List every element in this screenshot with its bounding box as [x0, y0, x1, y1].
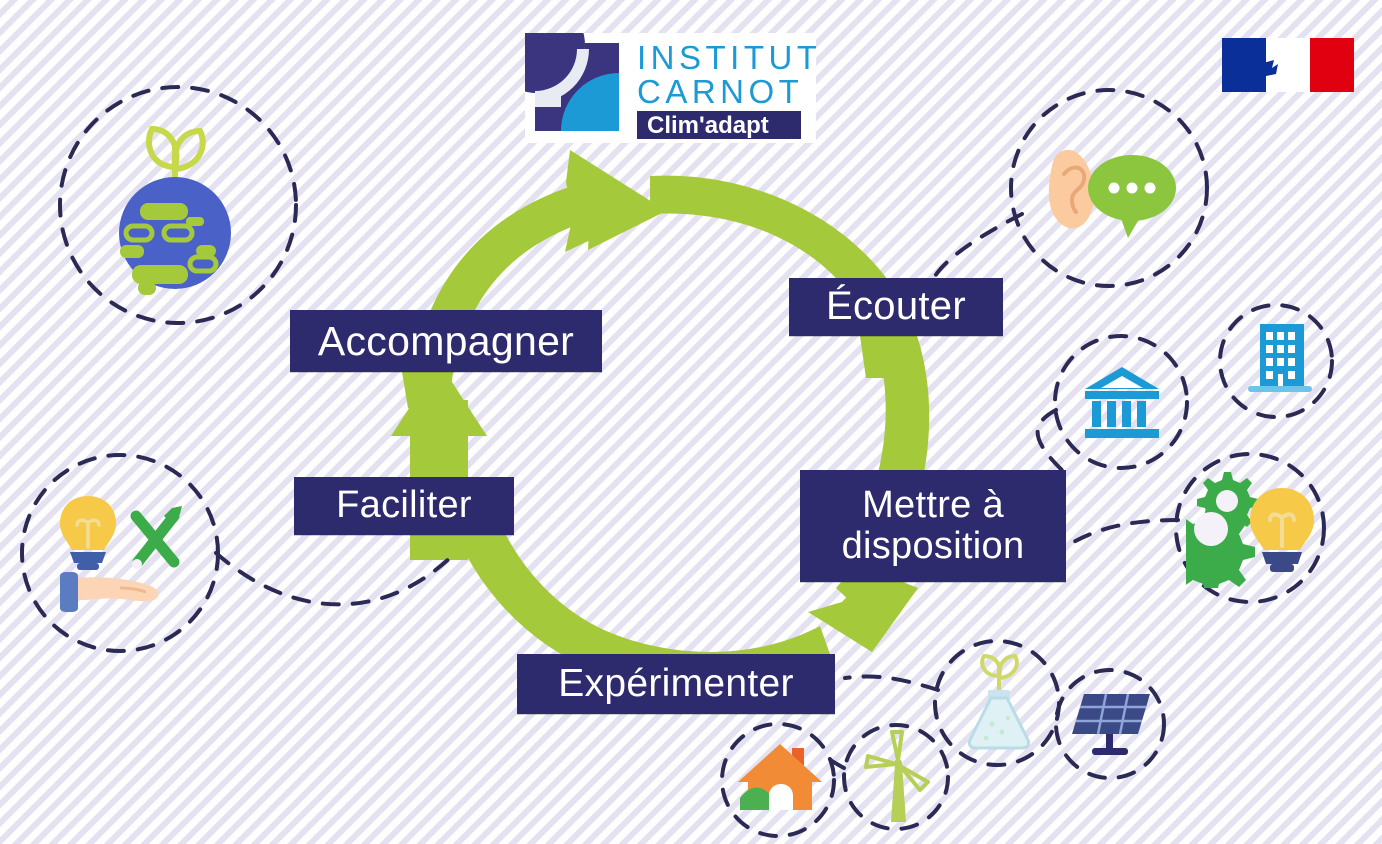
institut-carnot-logo: INSTITUT CARNOT Clim'adapt: [525, 33, 816, 143]
republique-francaise-flag-icon: [1222, 38, 1354, 92]
dash-link-bank-to-mettre: [1038, 410, 1066, 474]
house-eco-icon: [736, 740, 826, 816]
cycle-label-mettre-a-disposition[interactable]: Mettre à disposition: [800, 470, 1066, 582]
cycle-label-experimenter[interactable]: Expérimenter: [517, 654, 835, 714]
hand-lightbulb-tools-icon: [42, 490, 202, 614]
logo-badge-text: Clim'adapt: [647, 112, 769, 139]
dash-link-hand-to-faciliter: [216, 553, 452, 604]
cycle-label-faciliter[interactable]: Faciliter: [294, 477, 514, 535]
ear-speech-bubble-icon: [1042, 138, 1176, 242]
cycle-label-mettre-line2: disposition: [842, 526, 1025, 567]
cycle-label-mettre-line1: Mettre à: [862, 485, 1004, 526]
office-building-icon: [1244, 320, 1316, 396]
logo-line2: CARNOT: [637, 73, 803, 110]
logo-line1: INSTITUT: [637, 39, 816, 76]
flask-sprout-icon: [962, 652, 1036, 752]
dash-link-flask-to-exp: [845, 677, 938, 691]
globe-sprout-icon: [100, 105, 250, 295]
dash-link-gears-to-mettre: [1070, 520, 1178, 544]
diagram-canvas: INSTITUT CARNOT Clim'adapt Accompagner É…: [0, 0, 1382, 844]
bank-institution-icon: [1081, 363, 1163, 441]
solar-panel-icon: [1068, 688, 1154, 758]
wind-turbine-icon: [858, 730, 936, 824]
cycle-label-ecouter[interactable]: Écouter: [789, 278, 1003, 336]
cycle-label-accompagner[interactable]: Accompagner: [290, 310, 602, 372]
gears-lightbulb-icon: [1186, 468, 1318, 588]
dash-link-ear-to-ecouter: [930, 214, 1022, 286]
